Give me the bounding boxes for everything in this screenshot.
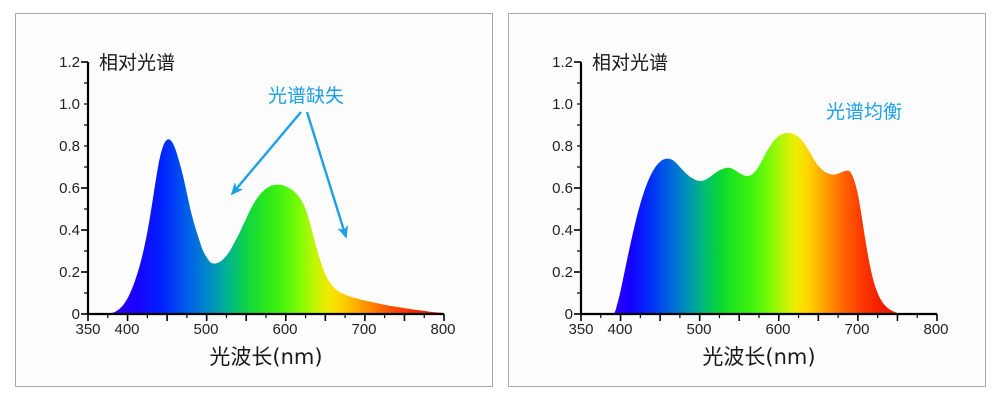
- x-tick-label: 350: [75, 321, 100, 338]
- annotation-label-spectrum-missing: 光谱缺失: [268, 85, 344, 107]
- x-tick-label: 700: [351, 321, 376, 338]
- y-tick-label: 0.6: [59, 180, 80, 197]
- x-tick-label: 500: [686, 321, 711, 338]
- y-tick-label: 0.8: [59, 138, 80, 155]
- plot-title-right: 相对光谱: [592, 52, 668, 74]
- annotation-arrow-left-2: [307, 112, 346, 237]
- plot-area-left: 1.2 1.0 0.8 0.6 0.4 0.2 0 350 400 500 60…: [16, 14, 492, 386]
- spectrum-fill-right: [581, 133, 937, 314]
- y-tick-label: 1.0: [552, 96, 573, 113]
- x-tick-label: 400: [114, 321, 139, 338]
- panel-spectrum-balanced: 1.2 1.0 0.8 0.6 0.4 0.2 0 350 400 500 60…: [508, 13, 986, 387]
- x-tick-label: 800: [923, 321, 948, 338]
- spectrum-chart-left: 1.2 1.0 0.8 0.6 0.4 0.2 0 350 400 500 60…: [16, 14, 492, 386]
- panel-spectrum-missing: 1.2 1.0 0.8 0.6 0.4 0.2 0 350 400 500 60…: [15, 13, 493, 387]
- y-tick-label: 0.6: [552, 180, 573, 197]
- y-tick-label: 1.2: [552, 54, 573, 71]
- x-axis-title-right: 光波长(nm): [702, 345, 815, 369]
- y-tick-label: 1.0: [59, 96, 80, 113]
- y-tick-label: 0.2: [552, 264, 573, 281]
- x-tick-label: 800: [430, 321, 455, 338]
- x-tick-label: 350: [568, 321, 593, 338]
- spectrum-chart-right: 1.2 1.0 0.8 0.6 0.4 0.2 0 350 400 500 60…: [509, 14, 985, 386]
- x-tick-label: 400: [607, 321, 632, 338]
- plot-area-right: 1.2 1.0 0.8 0.6 0.4 0.2 0 350 400 500 60…: [509, 14, 985, 386]
- y-tick-label: 0.4: [552, 222, 573, 239]
- annotation-label-spectrum-balanced: 光谱均衡: [826, 101, 902, 123]
- x-axis-title-left: 光波长(nm): [209, 345, 322, 369]
- annotation-group-right: 光谱均衡: [826, 101, 902, 123]
- x-tick-label: 700: [844, 321, 869, 338]
- x-tick-label: 600: [765, 321, 790, 338]
- spectrum-fill-left: [88, 139, 444, 314]
- figure-root: 1.2 1.0 0.8 0.6 0.4 0.2 0 350 400 500 60…: [0, 0, 1000, 401]
- y-tick-label: 1.2: [59, 54, 80, 71]
- y-tick-label: 0.8: [552, 138, 573, 155]
- y-tick-label: 0.2: [59, 264, 80, 281]
- plot-title-left: 相对光谱: [99, 52, 175, 74]
- annotation-arrow-left-1: [232, 112, 301, 194]
- x-tick-label: 500: [193, 321, 218, 338]
- x-tick-label: 600: [272, 321, 297, 338]
- y-tick-label: 0.4: [59, 222, 80, 239]
